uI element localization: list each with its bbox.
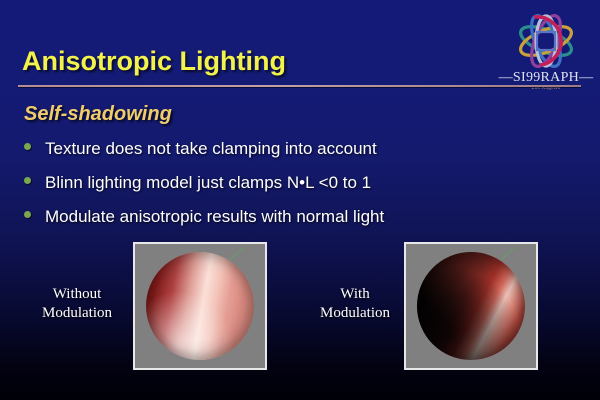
title-divider	[18, 85, 581, 87]
bullet-text: Blinn lighting model just clamps N•L <0 …	[45, 173, 371, 193]
figure-caption-left: Without Modulation	[18, 285, 136, 323]
figure-panel-without-modulation	[133, 242, 267, 370]
bullet-text: Texture does not take clamping into acco…	[45, 139, 377, 159]
logo-wordmark: —SI99RAPH—	[497, 70, 595, 86]
caption-line-2: Modulation	[300, 304, 410, 323]
presentation-slide: —SI99RAPH— Los Angeles Anisotropic Light…	[0, 0, 600, 400]
bullet-dot-icon	[24, 143, 31, 150]
bullet-list: Texture does not take clamping into acco…	[24, 139, 544, 241]
caption-line-1: Without	[18, 285, 136, 304]
sphere-render-with-modulation	[417, 252, 525, 360]
caption-line-1: With	[300, 285, 410, 304]
bullet-item: Modulate anisotropic results with normal…	[24, 207, 544, 241]
figure-caption-right: With Modulation	[300, 285, 410, 323]
bullet-item: Blinn lighting model just clamps N•L <0 …	[24, 173, 544, 207]
caption-line-2: Modulation	[18, 304, 136, 323]
figure-panel-with-modulation	[404, 242, 538, 370]
bullet-item: Texture does not take clamping into acco…	[24, 139, 544, 173]
slide-subtitle: Self-shadowing	[24, 103, 172, 126]
slide-title: Anisotropic Lighting	[22, 46, 286, 77]
bullet-dot-icon	[24, 177, 31, 184]
sphere-render-without-modulation	[146, 252, 254, 360]
bullet-text: Modulate anisotropic results with normal…	[45, 207, 384, 227]
bullet-dot-icon	[24, 211, 31, 218]
